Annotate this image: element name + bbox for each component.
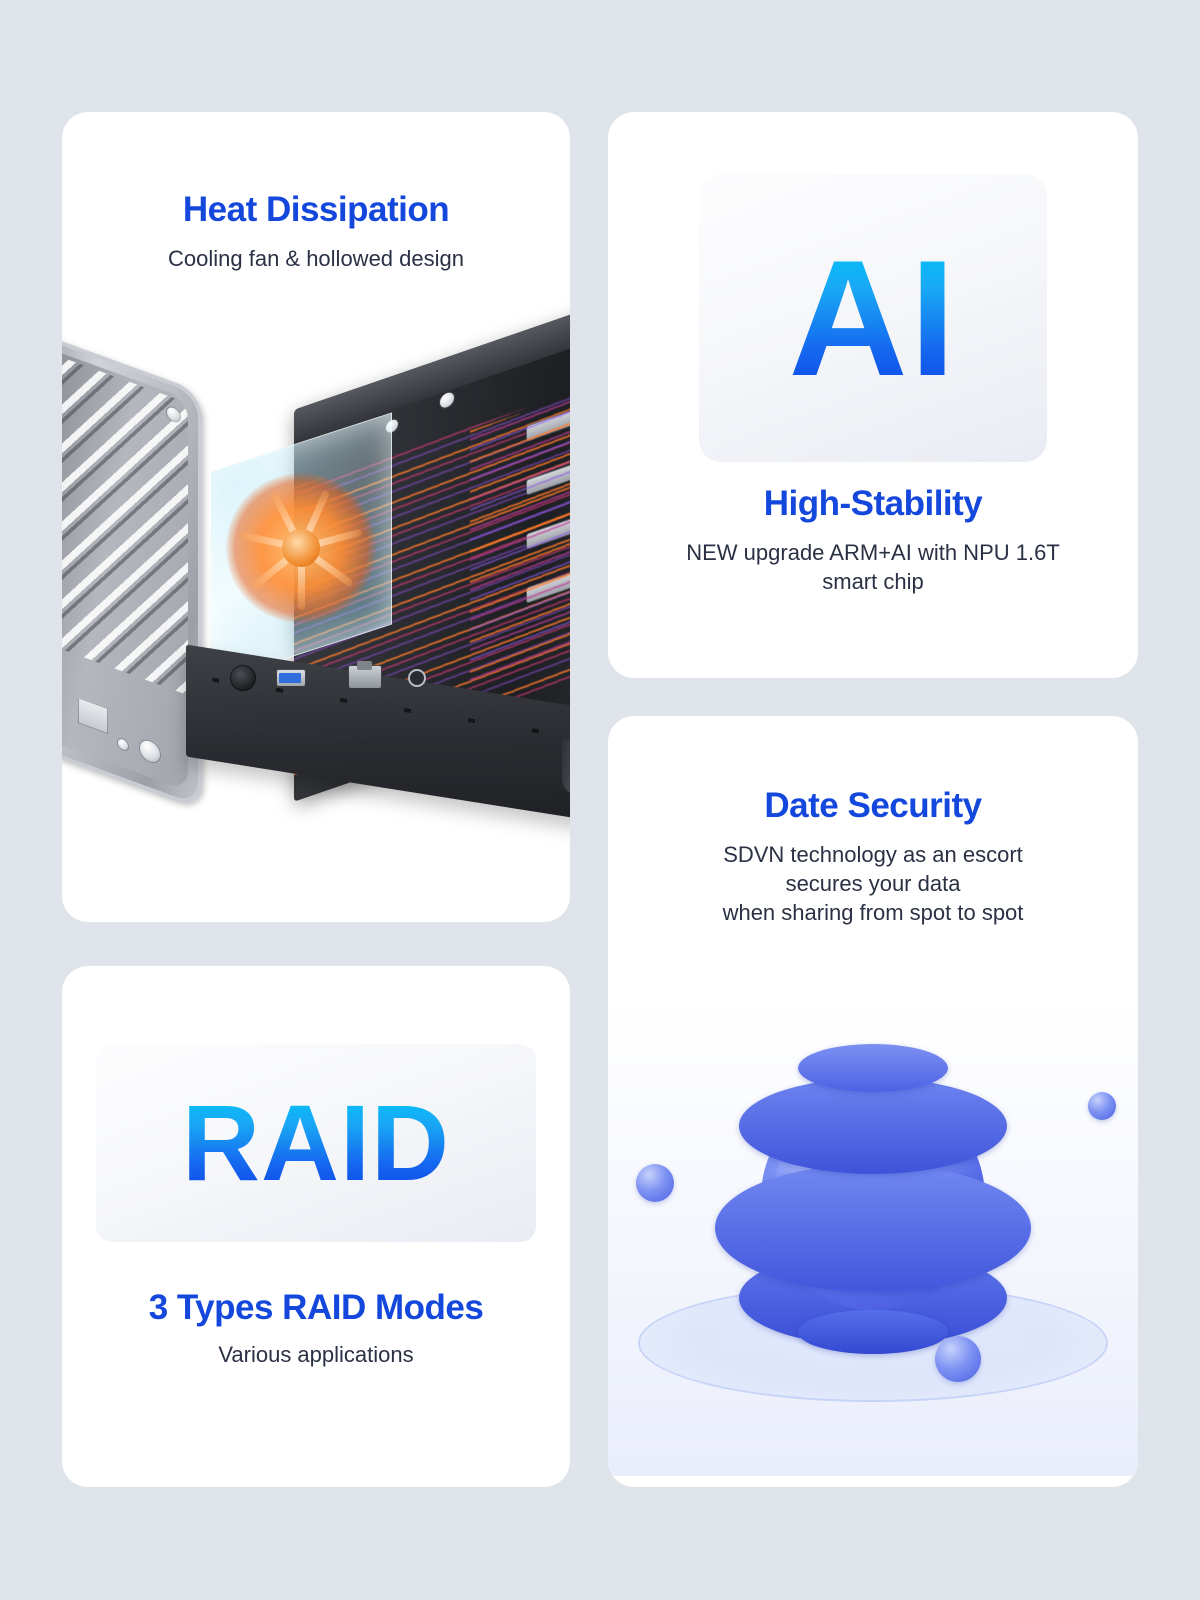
floating-sphere-front [935,1336,981,1382]
high-stability-subtitle-line2: smart chip [822,569,923,594]
date-security-title: Date Security [608,786,1138,826]
globe-ring-top [798,1044,948,1092]
ventilation-slots [62,353,188,703]
floating-sphere-left [636,1164,674,1202]
feature-card-date-security: Date Security SDVN technology as an esco… [608,716,1138,1487]
usb-blue-tab [279,673,301,683]
raid-modes-subtitle: Various applications [62,1340,570,1369]
ethernet-rj45-port [348,665,382,689]
screw-hole-icon [440,391,454,410]
raid-modes-title: 3 Types RAID Modes [62,1288,570,1328]
ai-badge-label: AI [789,236,958,401]
high-stability-subtitle: NEW upgrade ARM+AI with NPU 1.6T smart c… [608,538,1138,596]
date-security-subtitle-line3: when sharing from spot to spot [723,900,1024,925]
feature-card-high-stability: AI High-Stability NEW upgrade ARM+AI wit… [608,112,1138,678]
date-security-subtitle-line1: SDVN technology as an escort [723,842,1023,867]
feature-card-heat-dissipation: Heat Dissipation Cooling fan & hollowed … [62,112,570,922]
chassis-foot [562,739,570,795]
nas-enclosure-illustration [62,287,570,922]
high-stability-title: High-Stability [608,484,1138,524]
floating-sphere-right [1088,1092,1116,1120]
cooling-fan-icon [226,473,376,623]
date-security-subtitle-line2: secures your data [786,871,961,896]
fan-hub [282,529,320,567]
date-security-subtitle: SDVN technology as an escort secures you… [608,840,1138,927]
raid-badge-tile: RAID [96,1044,536,1242]
globe-assembly [713,1038,1033,1358]
globe-ring-upper [739,1078,1007,1174]
ai-badge-tile: AI [699,174,1047,462]
heat-dissipation-subtitle: Cooling fan & hollowed design [62,244,570,273]
feature-grid-page: Heat Dissipation Cooling fan & hollowed … [0,0,1200,1600]
usb-port [276,669,306,687]
globe-ring-middle [715,1164,1031,1292]
airflow-streaks-exhaust [470,379,570,681]
heat-dissipation-title: Heat Dissipation [62,190,570,230]
raid-badge-label: RAID [182,1089,450,1197]
globe-illustration [608,996,1138,1476]
power-button-icon [408,669,426,687]
high-stability-subtitle-line1: NEW upgrade ARM+AI with NPU 1.6T [686,540,1060,565]
globe-ring-bottom [798,1310,948,1354]
feature-card-raid-modes: RAID 3 Types RAID Modes Various applicat… [62,966,570,1487]
side-panel-vented [62,338,202,811]
power-jack-port [230,665,256,691]
